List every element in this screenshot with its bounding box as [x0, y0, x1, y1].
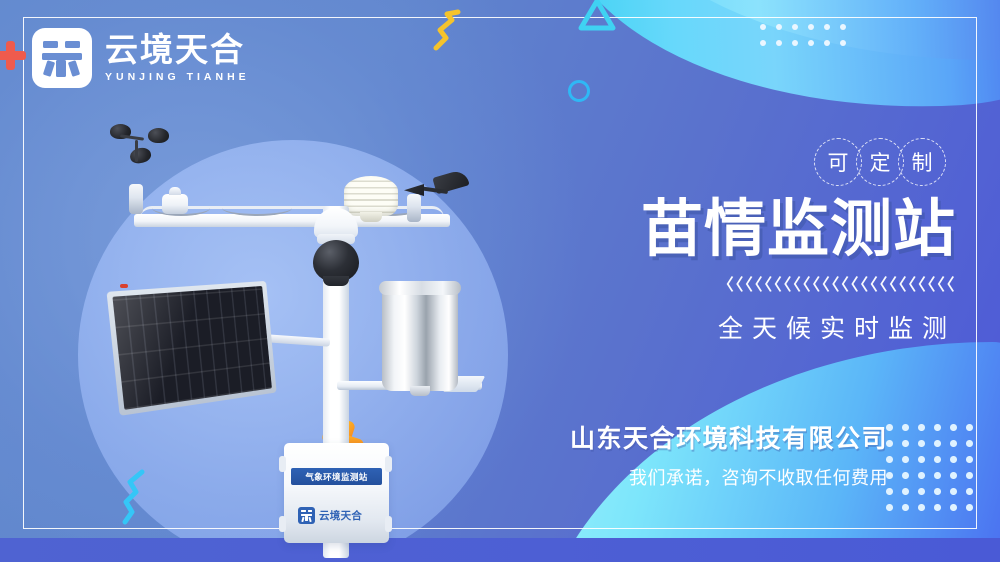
solar-panel-icon-cells: [112, 286, 272, 410]
radiation-shield-icon: [344, 176, 398, 216]
wind-vane-icon-body: [407, 194, 421, 222]
solar-panel-icon-sheen: [112, 286, 272, 410]
brand-logo-text: 云境天合 YUNJING TIANHE: [105, 33, 250, 83]
dot-grid-icon-top: [760, 24, 856, 56]
red-plus-icon: [0, 40, 26, 70]
brand-name-en: YUNJING TIANHE: [105, 71, 250, 83]
customizable-badges: 可 定 制: [576, 138, 946, 186]
hero-subtitle: 全天候实时监测: [576, 309, 956, 345]
radiation-shield-icon-base: [360, 212, 382, 222]
control-box-icon-ear: [279, 456, 286, 472]
yunjing-tianhe-logo-icon-small: [298, 507, 315, 524]
chevron-divider: 〈〈〈〈〈〈〈〈〈〈〈〈〈〈〈〈〈〈〈〈〈〈〈〈: [576, 271, 956, 295]
rain-gauge-icon: [382, 286, 458, 391]
control-box-icon: [284, 443, 389, 543]
device-brand-label: 云境天合: [319, 508, 362, 523]
cyan-ring-icon: [568, 80, 590, 102]
control-box-icon-ear: [279, 516, 286, 532]
rain-gauge-icon-foot: [410, 386, 430, 396]
anemometer-icon-spoke: [120, 134, 144, 140]
rain-gauge-icon-rim: [379, 281, 461, 295]
yunjing-tianhe-logo-icon: [32, 28, 92, 88]
product-banner: 云境天合 YUNJING TIANHE: [0, 0, 1000, 562]
device-label: 气象环境监测站: [291, 468, 382, 485]
badge-zhi: 制: [898, 138, 946, 186]
solar-panel-icon: [106, 281, 276, 416]
badge-ke: 可: [814, 138, 862, 186]
control-box-icon-ear: [385, 516, 392, 532]
device-brand-badge: 云境天合: [298, 506, 378, 524]
ptz-camera-icon-base: [323, 276, 349, 286]
company-block: 山东天合环境科技有限公司 我们承诺，咨询不收取任何费用: [570, 419, 888, 490]
anemometer-icon-cup: [129, 146, 153, 165]
solar-panel-icon-indicator: [120, 284, 128, 288]
badge-ding: 定: [856, 138, 904, 186]
hero-copy: 可 定 制 苗情监测站 〈〈〈〈〈〈〈〈〈〈〈〈〈〈〈〈〈〈〈〈〈〈〈〈 全天候…: [576, 138, 956, 345]
anemometer-icon-shaft: [135, 140, 138, 162]
anemometer-icon-cup: [148, 128, 169, 143]
company-name: 山东天合环境科技有限公司: [570, 419, 888, 455]
yellow-zigzag-icon: [432, 10, 466, 52]
page-title: 苗情监测站: [576, 197, 956, 261]
weather-station-illustration: 气象环境监测站 云境天合: [92, 88, 492, 558]
anemometer-icon-body: [129, 184, 143, 214]
cyan-triangle-icon: [578, 0, 616, 37]
sensor-wire: [222, 200, 292, 216]
company-promise: 我们承诺，咨询不收取任何费用: [570, 464, 888, 490]
brand-name-cn: 云境天合: [105, 33, 250, 68]
dot-grid-icon-bottom: [886, 424, 982, 520]
control-box-icon-ear: [385, 456, 392, 472]
junction-box-cap: [169, 187, 181, 195]
junction-box: [162, 194, 188, 214]
brand-logo[interactable]: 云境天合 YUNJING TIANHE: [32, 28, 250, 88]
